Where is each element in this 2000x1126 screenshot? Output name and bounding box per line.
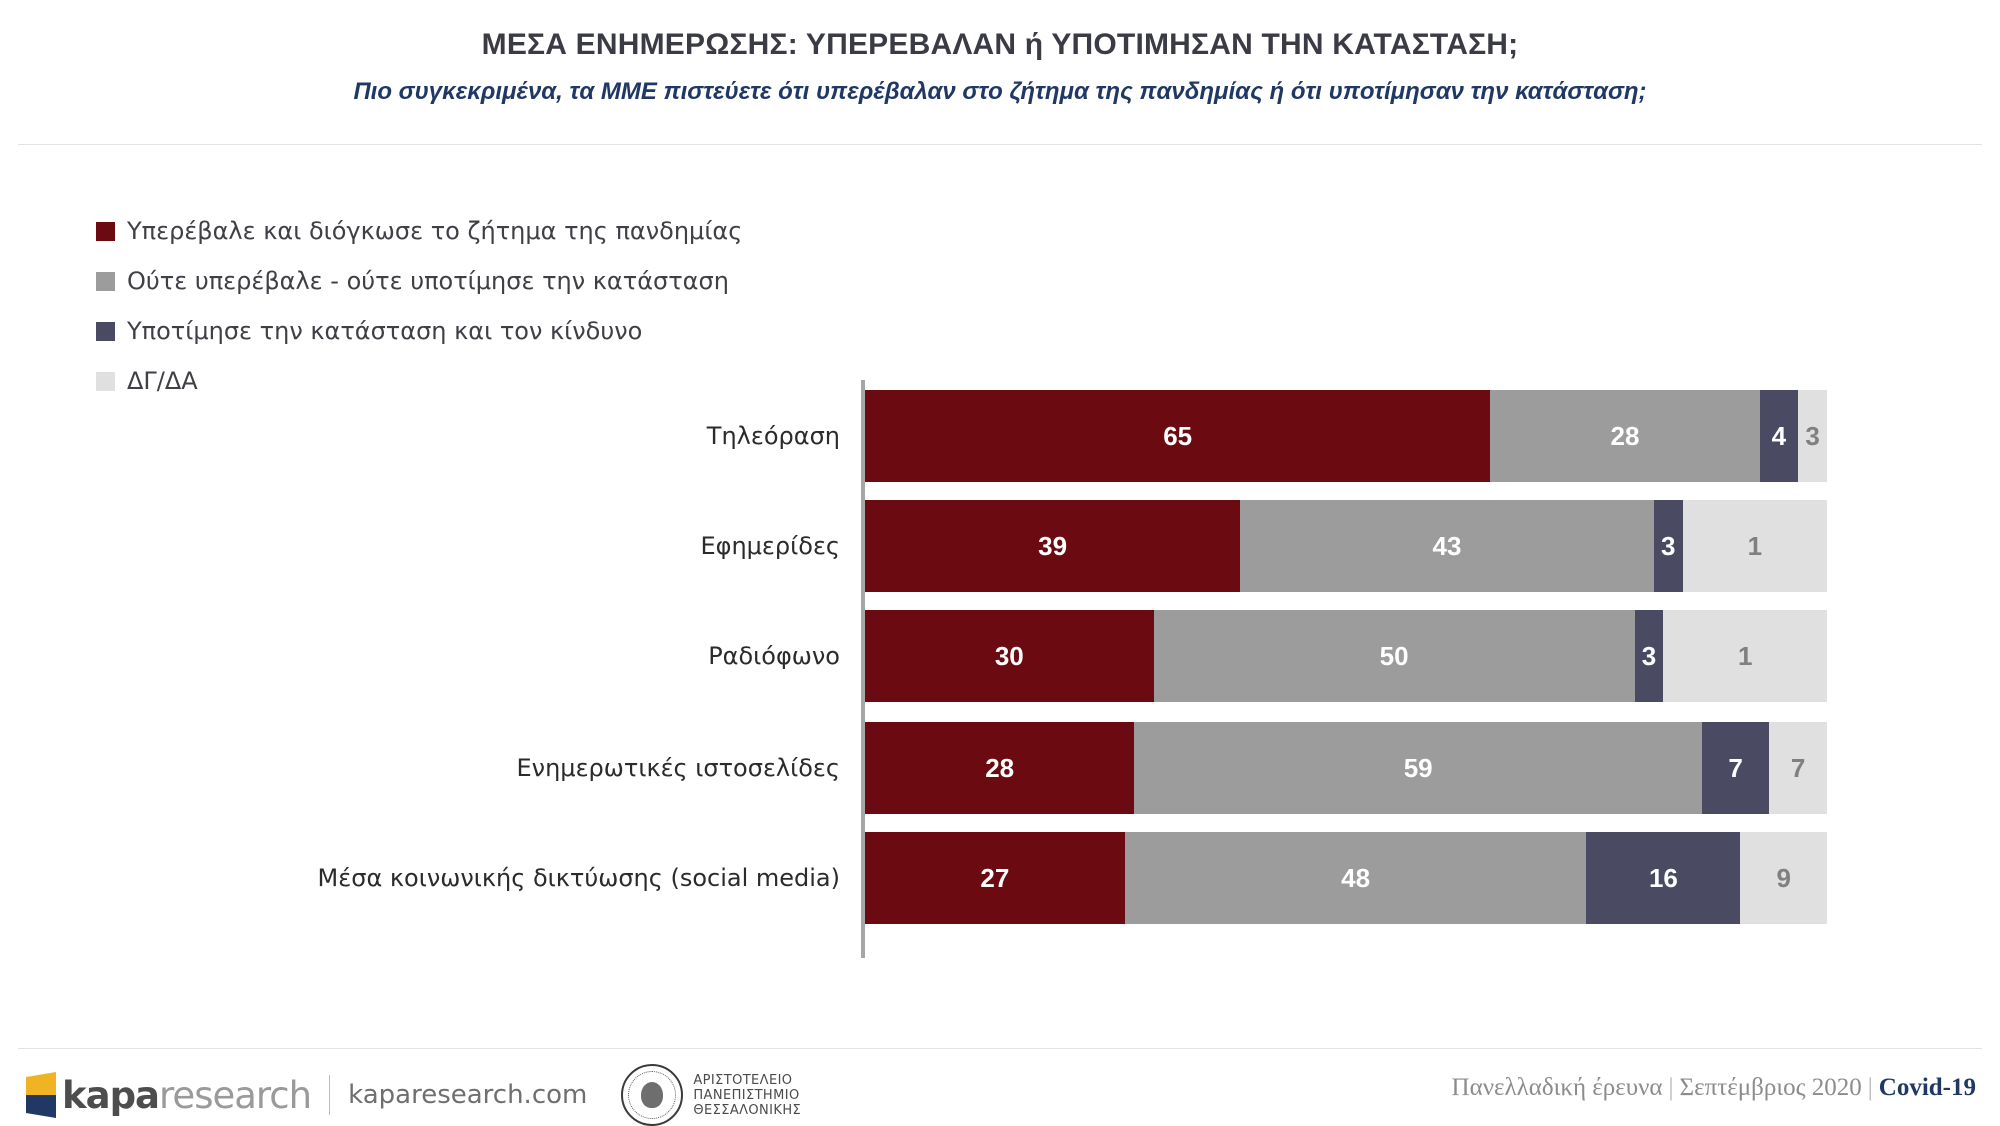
chart-header: ΜΕΣΑ ΕΝΗΜΕΡΩΣΗΣ: ΥΠΕΡΕΒΑΛΑΝ ή ΥΠΟΤΙΜΗΣΑΝ…	[0, 0, 2000, 150]
bar-segment-value: 1	[1738, 641, 1752, 672]
bar-segment[interactable]: 7	[1702, 722, 1769, 814]
bar-segment[interactable]: 7	[1769, 722, 1827, 814]
bar-segment[interactable]: 43	[1240, 500, 1654, 592]
legend-item-label: Υποτίμησε την κατάσταση και τον κίνδυνο	[127, 317, 642, 345]
bar-segment[interactable]: 9	[1740, 832, 1827, 924]
category-label: Μέσα κοινωνικής δικτύωσης (social media)	[318, 832, 840, 924]
footer-divider	[18, 1048, 1982, 1049]
category-label: Ραδιόφωνο	[708, 610, 840, 702]
bar-segment-value: 27	[980, 863, 1009, 894]
legend-item-label: Υπερέβαλε και διόγκωσε το ζήτημα της παν…	[127, 217, 742, 245]
bar-segment-value: 3	[1661, 531, 1675, 562]
stacked-bar: 2748169	[865, 832, 1827, 924]
survey-type: Πανελλαδική έρευνα	[1452, 1074, 1663, 1101]
university-block: ΑΡΙΣΤΟΤΕΛΕΙΟ ΠΑΝΕΠΙΣΤΗΜΙΟ ΘΕΣΣΑΛΟΝΙΚΗΣ	[621, 1064, 801, 1126]
survey-meta: Πανελλαδική έρευνα|Σεπτέμβριος 2020|Covi…	[1452, 1074, 1976, 1102]
legend-item-label: Ούτε υπερέβαλε - ούτε υποτίμησε την κατά…	[127, 267, 729, 295]
brand-name-light: research	[159, 1074, 311, 1117]
bar-segment[interactable]: 1	[1663, 610, 1827, 702]
bar-segment[interactable]: 4	[1760, 390, 1798, 482]
bar-segment-value: 4	[1772, 421, 1786, 452]
bar-segment-value: 48	[1341, 863, 1370, 894]
stacked-bar: 394331	[865, 500, 1827, 592]
legend-item[interactable]: Ούτε υπερέβαλε - ούτε υποτίμησε την κατά…	[96, 256, 742, 306]
chart-row: Μέσα κοινωνικής δικτύωσης (social media)…	[0, 832, 2000, 924]
bar-segment[interactable]: 28	[1490, 390, 1759, 482]
bar-segment[interactable]: 30	[865, 610, 1154, 702]
stacked-bar: 285977	[865, 722, 1827, 814]
bar-segment-value: 3	[1805, 421, 1819, 452]
category-label: Εφημερίδες	[700, 500, 840, 592]
chart-row: Τηλεόραση652843	[0, 390, 2000, 482]
bar-segment[interactable]: 50	[1154, 610, 1635, 702]
bar-segment[interactable]: 65	[865, 390, 1490, 482]
stacked-bar-chart: Τηλεόραση652843Εφημερίδες394331Ραδιόφωνο…	[0, 380, 2000, 970]
bar-segment[interactable]: 27	[865, 832, 1125, 924]
chart-row: Εφημερίδες394331	[0, 500, 2000, 592]
chart-row: Ενημερωτικές ιστοσελίδες285977	[0, 722, 2000, 814]
chart-row: Ραδιόφωνο305031	[0, 610, 2000, 702]
meta-separator-2: |	[1868, 1074, 1873, 1101]
brand-block: kapa research kaparesearch.com ΑΡΙΣΤΟΤΕΛ…	[22, 1064, 801, 1126]
legend-item[interactable]: Υπερέβαλε και διόγκωσε το ζήτημα της παν…	[96, 206, 742, 256]
meta-separator-1: |	[1669, 1074, 1674, 1101]
bar-segment[interactable]: 59	[1134, 722, 1702, 814]
bar-segment-value: 7	[1791, 753, 1805, 784]
bar-segment-value: 30	[995, 641, 1024, 672]
bar-segment-value: 59	[1404, 753, 1433, 784]
bar-segment-value: 1	[1748, 531, 1762, 562]
bar-segment-value: 9	[1776, 863, 1790, 894]
bar-segment-value: 16	[1649, 863, 1678, 894]
bar-segment[interactable]: 16	[1586, 832, 1740, 924]
stacked-bar: 305031	[865, 610, 1827, 702]
category-label: Τηλεόραση	[707, 390, 840, 482]
bar-segment-value: 39	[1038, 531, 1067, 562]
bar-segment[interactable]: 28	[865, 722, 1134, 814]
bar-segment-value: 28	[1611, 421, 1640, 452]
bar-segment[interactable]: 48	[1125, 832, 1587, 924]
bar-segment[interactable]: 1	[1683, 500, 1827, 592]
brand-separator	[329, 1075, 330, 1115]
bar-segment-value: 3	[1642, 641, 1656, 672]
survey-date: Σεπτέμβριος 2020	[1680, 1074, 1862, 1101]
bar-segment[interactable]: 3	[1798, 390, 1827, 482]
legend-item[interactable]: Υποτίμησε την κατάσταση και τον κίνδυνο	[96, 306, 742, 356]
kapa-logo-icon	[22, 1072, 56, 1118]
legend-swatch-icon	[96, 222, 115, 241]
university-name: ΑΡΙΣΤΟΤΕΛΕΙΟ ΠΑΝΕΠΙΣΤΗΜΙΟ ΘΕΣΣΑΛΟΝΙΚΗΣ	[693, 1073, 801, 1118]
page-title: ΜΕΣΑ ΕΝΗΜΕΡΩΣΗΣ: ΥΠΕΡΕΒΑΛΑΝ ή ΥΠΟΤΙΜΗΣΑΝ…	[0, 28, 2000, 62]
university-seal-icon	[621, 1064, 683, 1126]
bar-segment-value: 28	[985, 753, 1014, 784]
brand-name-bold: kapa	[62, 1074, 159, 1117]
bar-segment-value: 65	[1163, 421, 1192, 452]
chart-legend: Υπερέβαλε και διόγκωσε το ζήτημα της παν…	[96, 206, 742, 406]
bar-segment[interactable]: 3	[1635, 610, 1664, 702]
legend-swatch-icon	[96, 322, 115, 341]
bar-segment-value: 50	[1380, 641, 1409, 672]
chart-footer: kapa research kaparesearch.com ΑΡΙΣΤΟΤΕΛ…	[0, 1050, 2000, 1125]
stacked-bar: 652843	[865, 390, 1827, 482]
page-subtitle: Πιο συγκεκριμένα, τα ΜΜΕ πιστεύετε ότι υ…	[0, 78, 2000, 106]
website-link[interactable]: kaparesearch.com	[348, 1080, 587, 1110]
bar-segment-value: 43	[1433, 531, 1462, 562]
header-divider	[18, 144, 1982, 145]
legend-swatch-icon	[96, 272, 115, 291]
survey-topic: Covid-19	[1879, 1074, 1976, 1101]
bar-segment[interactable]: 3	[1654, 500, 1683, 592]
bar-segment-value: 7	[1728, 753, 1742, 784]
bar-segment[interactable]: 39	[865, 500, 1240, 592]
category-label: Ενημερωτικές ιστοσελίδες	[517, 722, 840, 814]
